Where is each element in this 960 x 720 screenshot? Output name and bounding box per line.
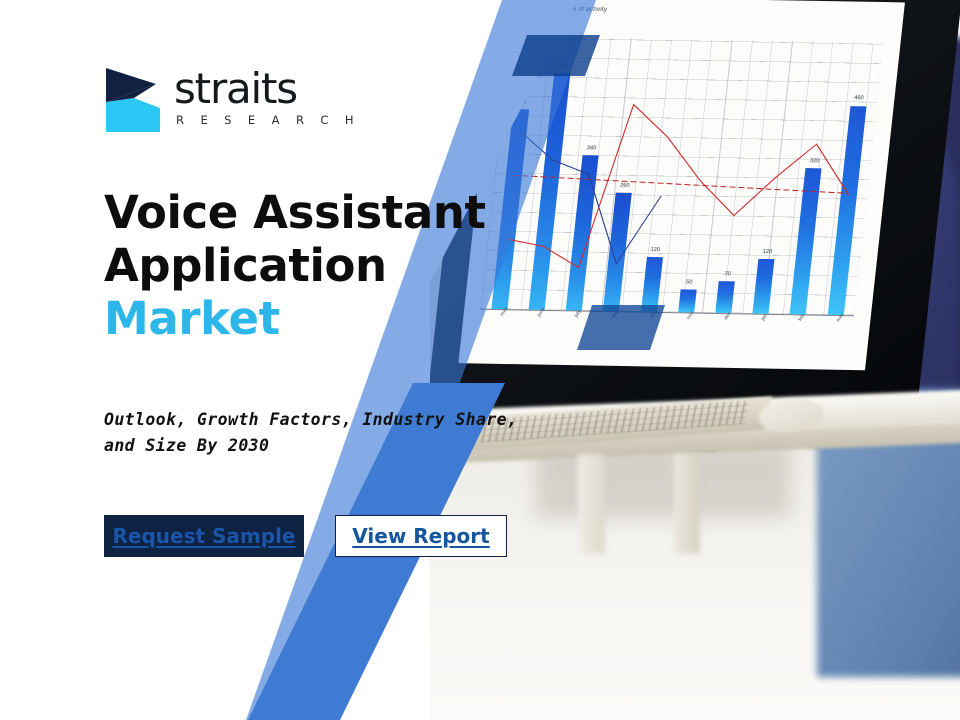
photo-desk-leg-right (674, 454, 701, 555)
view-report-button[interactable]: View Report (335, 515, 507, 557)
view-report-label: View Report (352, 524, 489, 548)
title-accent-market: Market (104, 292, 520, 345)
chart-category-label: aug (611, 309, 621, 319)
title-line-2: Application (104, 239, 520, 292)
chart-category-label: july (573, 309, 582, 318)
chart-category-label: jan (760, 313, 769, 322)
page-title: Voice Assistant Application Market (104, 186, 520, 345)
request-sample-label: Request Sample (113, 524, 296, 548)
photo-desk-leg-left (578, 454, 605, 555)
brand-name: straits (174, 68, 360, 110)
subtitle: Outlook, Growth Factors, Industry Share,… (104, 407, 520, 459)
cta-button-group: Request Sample View Report (104, 515, 520, 557)
chevron-arrow-logo-icon (104, 62, 166, 134)
brand-logo[interactable]: straits R E S E A R C H (104, 62, 520, 144)
chart-category-label: feb (798, 314, 807, 323)
title-line-1: Voice Assistant (104, 186, 520, 239)
chart-lines (481, 36, 884, 315)
brand-tagline: R E S E A R C H (176, 113, 360, 127)
brand-wordmark: straits R E S E A R C H (174, 62, 360, 127)
report-banner: Data and prognosis of activity 440520340… (0, 0, 960, 720)
banner-content: straits R E S E A R C H Voice Assistant … (0, 0, 520, 720)
request-sample-button[interactable]: Request Sample (104, 515, 304, 557)
